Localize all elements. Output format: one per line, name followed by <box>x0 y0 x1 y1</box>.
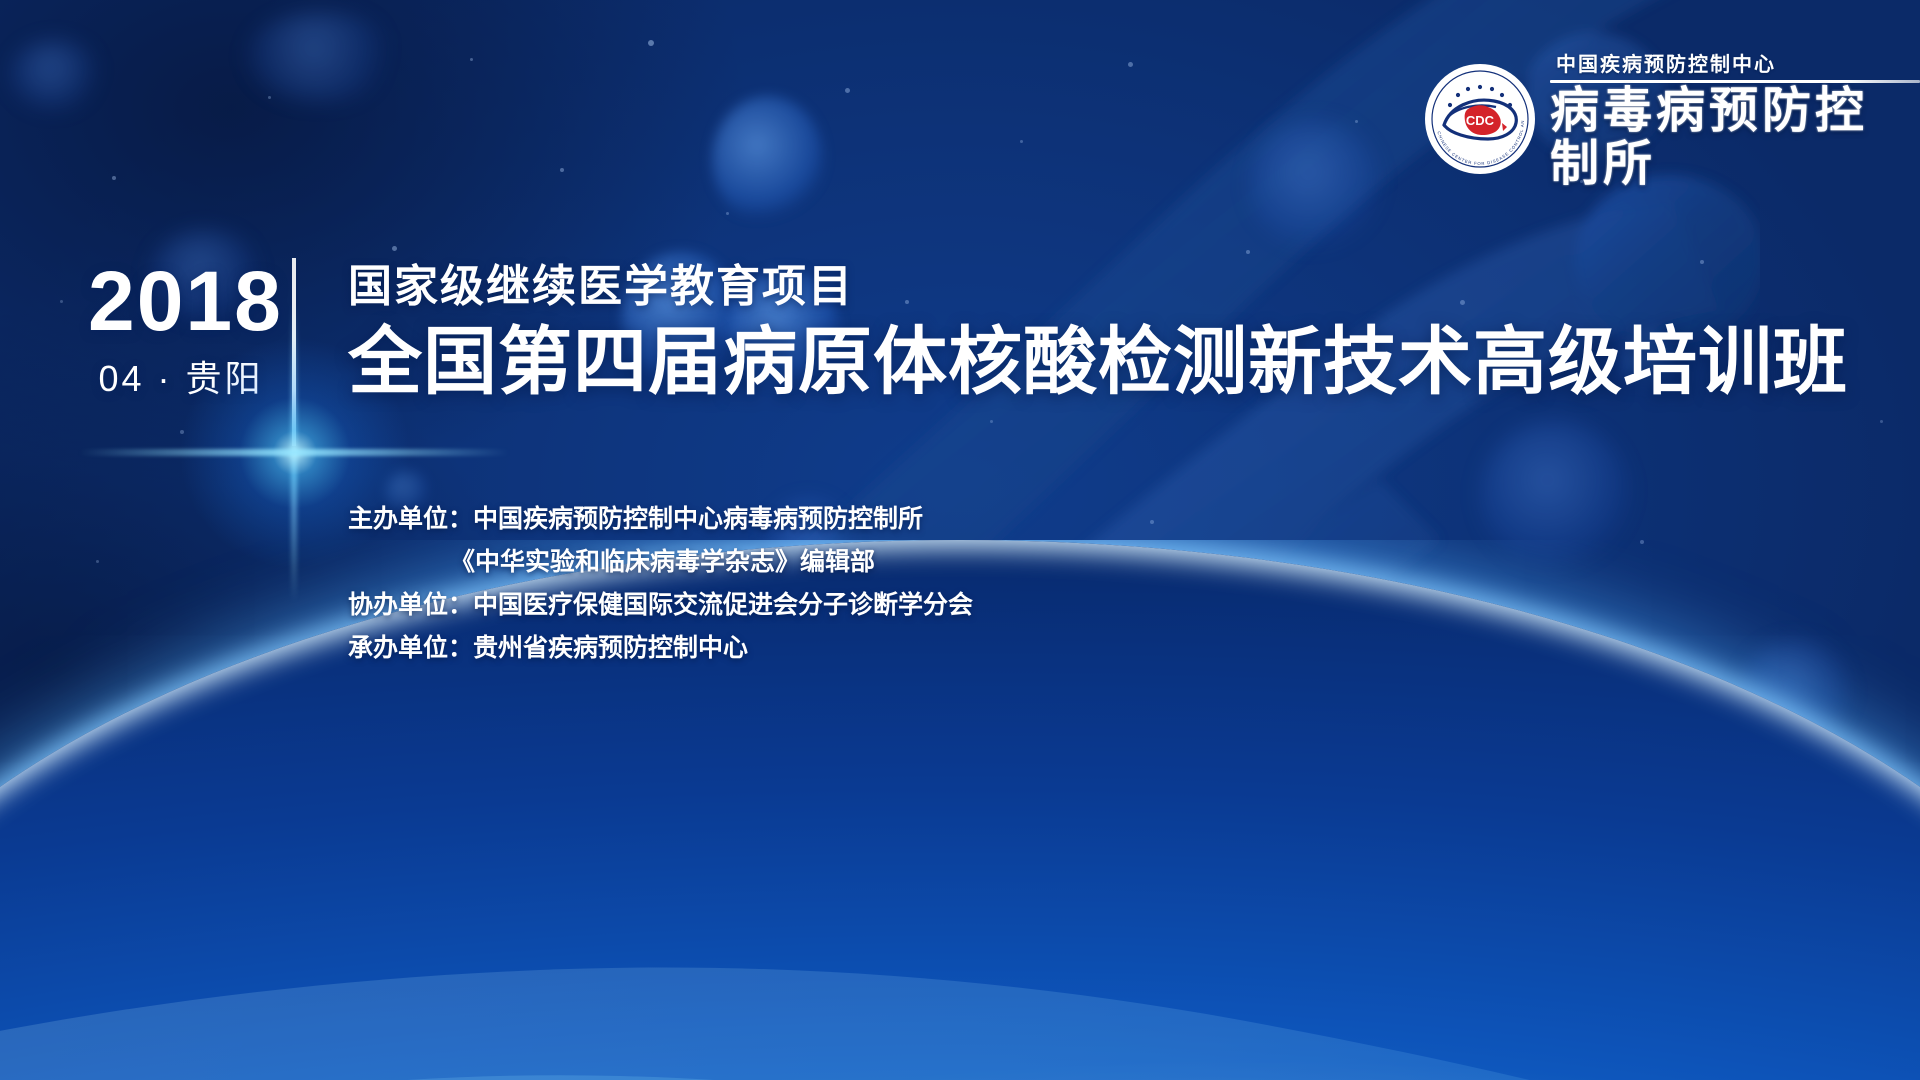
event-year: 2018 <box>88 262 274 342</box>
svg-text:CDC: CDC <box>1466 113 1495 128</box>
cdc-logo: CDC CHINESE CENTER FOR DISEASE CONTROL A… <box>1424 48 1920 191</box>
conference-poster: CDC CHINESE CENTER FOR DISEASE CONTROL A… <box>0 0 1920 1080</box>
china-cdc-emblem-icon: CDC CHINESE CENTER FOR DISEASE CONTROL A… <box>1424 63 1536 175</box>
title-block: 国家级继续医学教育项目 全国第四届病原体核酸检测新技术高级培训班 <box>348 262 1848 403</box>
program-kicker: 国家级继续医学教育项目 <box>348 262 1848 313</box>
logo-divider-rule <box>1550 80 1920 83</box>
logo-parent-org: 中国疾病预防控制中心 <box>1550 48 1920 77</box>
organizer-line: 协办单位：中国医疗保健国际交流促进会分子诊断学分会 <box>348 584 973 627</box>
organizer-list: 主办单位：中国疾病预防控制中心病毒病预防控制所 《中华实验和临床病毒学杂志》编辑… <box>348 498 973 670</box>
organizer-line: 《中华实验和临床病毒学杂志》编辑部 <box>348 541 973 584</box>
logo-institute-name: 病毒病预防控制所 <box>1550 85 1920 191</box>
organizer-line: 主办单位：中国疾病预防控制中心病毒病预防控制所 <box>348 498 973 541</box>
page-title: 全国第四届病原体核酸检测新技术高级培训班 <box>348 321 1848 404</box>
organizer-line: 承办单位：贵州省疾病预防控制中心 <box>348 627 973 670</box>
lens-flare-icon <box>294 452 296 454</box>
